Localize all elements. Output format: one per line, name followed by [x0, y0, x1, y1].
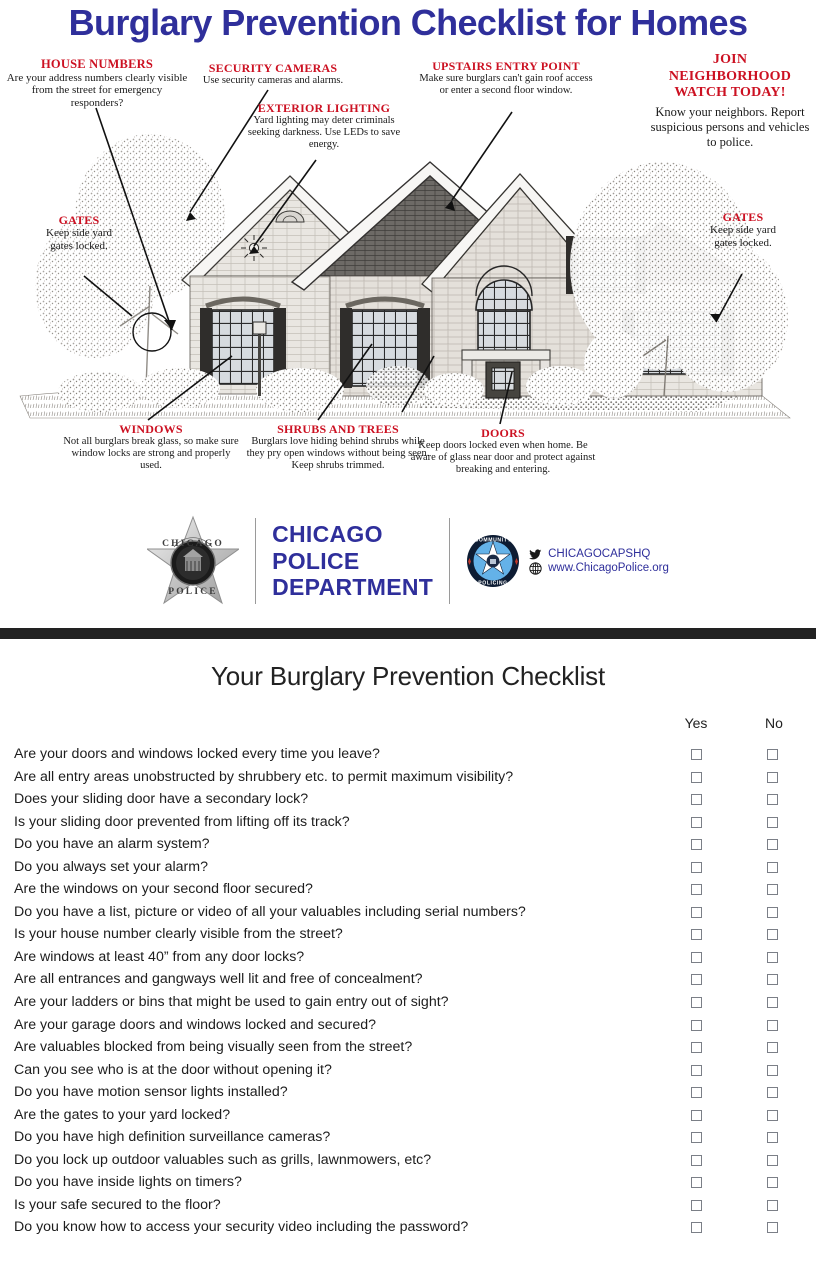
- checkbox-no[interactable]: [767, 1177, 778, 1188]
- checklist-row: Are all entry areas unobstructed by shru…: [0, 768, 816, 791]
- callout-body: Yard lighting may deter criminals seekin…: [238, 115, 410, 152]
- checklist-row: Are your ladders or bins that might be u…: [0, 993, 816, 1016]
- social-links: CHICAGOCAPSHQ www.ChicagoPolice.org: [529, 547, 669, 576]
- checklist-question: Are all entrances and gangways well lit …: [14, 971, 423, 987]
- checkbox-yes[interactable]: [691, 952, 702, 963]
- cpd-department-name: CHICAGO POLICE DEPARTMENT: [272, 521, 433, 602]
- checklist-question: Do you always set your alarm?: [14, 859, 208, 875]
- cpd-star-badge-icon: CHICAGO POLICE: [147, 513, 239, 609]
- callout-body: Burglars love hiding behind shrubs while…: [244, 436, 432, 473]
- checkbox-yes[interactable]: [691, 1200, 702, 1211]
- checklist-row: Do you know how to access your security …: [0, 1218, 816, 1241]
- checklist-question: Are all entry areas unobstructed by shru…: [14, 769, 513, 785]
- checklist-row: Do you have a list, picture or video of …: [0, 903, 816, 926]
- callout-exterior-lighting: EXTERIOR LIGHTING Yard lighting may dete…: [238, 102, 410, 151]
- checklist-row: Are the gates to your yard locked?: [0, 1106, 816, 1129]
- twitter-handle: CHICAGOCAPSHQ: [548, 548, 650, 560]
- checkbox-no[interactable]: [767, 929, 778, 940]
- checkbox-yes[interactable]: [691, 749, 702, 760]
- column-header-no: No: [751, 715, 797, 731]
- checkbox-no[interactable]: [767, 862, 778, 873]
- community-policing-logo-icon: COMMUNITY POLICING: [466, 534, 520, 588]
- twitter-icon: [529, 548, 542, 561]
- checkbox-no[interactable]: [767, 1042, 778, 1053]
- callout-neighborhood-watch: JOIN NEIGHBORHOOD WATCH TODAY! Know your…: [650, 52, 810, 150]
- social-row-website[interactable]: www.ChicagoPolice.org: [529, 562, 669, 575]
- callout-heading: SHRUBS AND TREES: [244, 423, 432, 436]
- checkbox-no[interactable]: [767, 1132, 778, 1143]
- svg-text:COMMUNITY: COMMUNITY: [475, 538, 512, 544]
- checklist-row: Do you have an alarm system?: [0, 835, 816, 858]
- callout-heading: JOIN NEIGHBORHOOD WATCH TODAY!: [650, 52, 810, 102]
- checklist-question: Are valuables blocked from being visuall…: [14, 1039, 412, 1055]
- callout-shrubs-and-trees: SHRUBS AND TREES Burglars love hiding be…: [244, 423, 432, 472]
- callout-heading: EXTERIOR LIGHTING: [238, 102, 410, 115]
- section-divider: [0, 628, 816, 639]
- footer-logo-bar: CHICAGO POLICE CHICAGO POLICE DEPARTMENT…: [0, 498, 816, 624]
- checklist-row: Do you have high definition surveillance…: [0, 1128, 816, 1151]
- checklist-question: Do you have an alarm system?: [14, 836, 210, 852]
- checklist-row: Do you have motion sensor lights install…: [0, 1083, 816, 1106]
- globe-icon: [529, 562, 542, 575]
- svg-text:POLICE: POLICE: [168, 587, 218, 597]
- checklist-question: Does your sliding door have a secondary …: [14, 791, 308, 807]
- callout-body: Keep side yard gates locked.: [700, 224, 786, 250]
- checkbox-yes[interactable]: [691, 1155, 702, 1166]
- checklist-question: Is your house number clearly visible fro…: [14, 926, 343, 942]
- checklist-row: Are windows at least 40” from any door l…: [0, 948, 816, 971]
- checkbox-no[interactable]: [767, 794, 778, 805]
- callout-body: Keep side yard gates locked.: [36, 227, 122, 253]
- callout-heading: SECURITY CAMERAS: [190, 62, 356, 75]
- callout-body: Are your address numbers clearly visible…: [6, 72, 188, 110]
- checkbox-no[interactable]: [767, 974, 778, 985]
- checkbox-yes[interactable]: [691, 907, 702, 918]
- callout-body: Keep doors locked even when home. Be awa…: [410, 440, 596, 477]
- callout-heading: DOORS: [410, 427, 596, 440]
- checklist-row: Are your doors and windows locked every …: [0, 745, 816, 768]
- checklist-row: Are valuables blocked from being visuall…: [0, 1038, 816, 1061]
- callout-gates-right: GATES Keep side yard gates locked.: [700, 211, 786, 249]
- page-root: Burglary Prevention Checklist for Homes: [0, 0, 816, 1280]
- checklist-row: Is your safe secured to the floor?: [0, 1196, 816, 1219]
- checkbox-no[interactable]: [767, 884, 778, 895]
- checkbox-yes[interactable]: [691, 884, 702, 895]
- checklist-question: Are windows at least 40” from any door l…: [14, 949, 304, 965]
- checkbox-no[interactable]: [767, 1065, 778, 1076]
- checkbox-yes[interactable]: [691, 862, 702, 873]
- callout-doors: DOORS Keep doors locked even when home. …: [410, 427, 596, 476]
- checklist-column-headers: Yes No: [0, 715, 816, 733]
- checklist-question: Do you have high definition surveillance…: [14, 1129, 330, 1145]
- checkbox-no[interactable]: [767, 1020, 778, 1031]
- callout-windows: WINDOWS Not all burglars break glass, so…: [62, 423, 240, 472]
- checklist-title: Your Burglary Prevention Checklist: [0, 661, 816, 692]
- checklist-row: Is your house number clearly visible fro…: [0, 925, 816, 948]
- callout-house-numbers: HOUSE NUMBERS Are your address numbers c…: [6, 58, 188, 110]
- callout-heading: GATES: [36, 214, 122, 227]
- checklist-question: Can you see who is at the door without o…: [14, 1062, 332, 1078]
- checklist-question: Do you have inside lights on timers?: [14, 1174, 242, 1190]
- checkbox-no[interactable]: [767, 1110, 778, 1121]
- checkbox-yes[interactable]: [691, 839, 702, 850]
- checkbox-yes[interactable]: [691, 1177, 702, 1188]
- callout-body: Use security cameras and alarms.: [190, 75, 356, 87]
- checkbox-no[interactable]: [767, 1200, 778, 1211]
- checkbox-yes[interactable]: [691, 1020, 702, 1031]
- column-header-yes: Yes: [673, 715, 719, 731]
- divider-left: [255, 518, 256, 604]
- checklist-question: Are your garage doors and windows locked…: [14, 1017, 376, 1033]
- callout-gates-left: GATES Keep side yard gates locked.: [36, 214, 122, 252]
- checklist-row: Does your sliding door have a secondary …: [0, 790, 816, 813]
- checklist-row: Do you always set your alarm?: [0, 858, 816, 881]
- callout-heading: WINDOWS: [62, 423, 240, 436]
- website-url: www.ChicagoPolice.org: [548, 562, 669, 574]
- checklist-question: Are your ladders or bins that might be u…: [14, 994, 449, 1010]
- cpd-line-2: POLICE: [272, 548, 433, 575]
- checklist-question: Are your doors and windows locked every …: [14, 746, 380, 762]
- checklist-question: Do you lock up outdoor valuables such as…: [14, 1152, 431, 1168]
- callout-body: Make sure burglars can't gain roof acces…: [416, 73, 596, 97]
- checkbox-yes[interactable]: [691, 1132, 702, 1143]
- callout-body: Know your neighbors. Report suspicious p…: [650, 105, 810, 151]
- social-row-twitter[interactable]: CHICAGOCAPSHQ: [529, 548, 669, 561]
- checklist-row: Are all entrances and gangways well lit …: [0, 970, 816, 993]
- callout-upstairs-entry-point: UPSTAIRS ENTRY POINT Make sure burglars …: [416, 60, 596, 97]
- checkbox-yes[interactable]: [691, 817, 702, 828]
- checklist-question: Is your sliding door prevented from lift…: [14, 814, 350, 830]
- checkbox-no[interactable]: [767, 839, 778, 850]
- checkbox-no[interactable]: [767, 817, 778, 828]
- checkbox-yes[interactable]: [691, 1065, 702, 1076]
- checkbox-no[interactable]: [767, 907, 778, 918]
- checklist-section: Your Burglary Prevention Checklist Yes N…: [0, 639, 816, 1280]
- checkbox-no[interactable]: [767, 997, 778, 1008]
- checkbox-no[interactable]: [767, 952, 778, 963]
- checklist-row: Do you have inside lights on timers?: [0, 1173, 816, 1196]
- checklist-row: Is your sliding door prevented from lift…: [0, 813, 816, 836]
- svg-text:CHICAGO: CHICAGO: [162, 539, 224, 549]
- checklist-question: Do you have motion sensor lights install…: [14, 1084, 288, 1100]
- checkbox-no[interactable]: [767, 1155, 778, 1166]
- checklist-question: Are the windows on your second floor sec…: [14, 881, 313, 897]
- checklist-row: Are the windows on your second floor sec…: [0, 880, 816, 903]
- checkbox-yes[interactable]: [691, 929, 702, 940]
- checklist-row: Are your garage doors and windows locked…: [0, 1016, 816, 1039]
- checkbox-yes[interactable]: [691, 1087, 702, 1098]
- callout-heading: UPSTAIRS ENTRY POINT: [416, 60, 596, 73]
- poster-section: Burglary Prevention Checklist for Homes: [0, 0, 816, 628]
- callout-security-cameras: SECURITY CAMERAS Use security cameras an…: [190, 62, 356, 87]
- checklist-question: Are the gates to your yard locked?: [14, 1107, 230, 1123]
- cpd-line-1: CHICAGO: [272, 521, 433, 548]
- checklist-row: Do you lock up outdoor valuables such as…: [0, 1151, 816, 1174]
- checklist-question: Is your safe secured to the floor?: [14, 1197, 221, 1213]
- checkbox-no[interactable]: [767, 772, 778, 783]
- divider-right: [449, 518, 450, 604]
- checklist-question: Do you know how to access your security …: [14, 1219, 468, 1235]
- checkbox-no[interactable]: [767, 1087, 778, 1098]
- callout-heading: GATES: [700, 211, 786, 224]
- callout-body: Not all burglars break glass, so make su…: [62, 436, 240, 473]
- checkbox-yes[interactable]: [691, 772, 702, 783]
- checkbox-yes[interactable]: [691, 1222, 702, 1233]
- callout-heading: HOUSE NUMBERS: [6, 58, 188, 72]
- checkbox-yes[interactable]: [691, 1110, 702, 1121]
- checkbox-no[interactable]: [767, 1222, 778, 1233]
- checklist-row: Can you see who is at the door without o…: [0, 1061, 816, 1084]
- checkbox-yes[interactable]: [691, 1042, 702, 1053]
- checklist-rows: Are your doors and windows locked every …: [0, 745, 816, 1241]
- checklist-question: Do you have a list, picture or video of …: [14, 904, 526, 920]
- cpd-line-3: DEPARTMENT: [272, 574, 433, 601]
- checkbox-yes[interactable]: [691, 974, 702, 985]
- svg-text:POLICING: POLICING: [478, 581, 507, 587]
- poster-title: Burglary Prevention Checklist for Homes: [0, 2, 816, 44]
- checkbox-yes[interactable]: [691, 997, 702, 1008]
- checkbox-yes[interactable]: [691, 794, 702, 805]
- checkbox-no[interactable]: [767, 749, 778, 760]
